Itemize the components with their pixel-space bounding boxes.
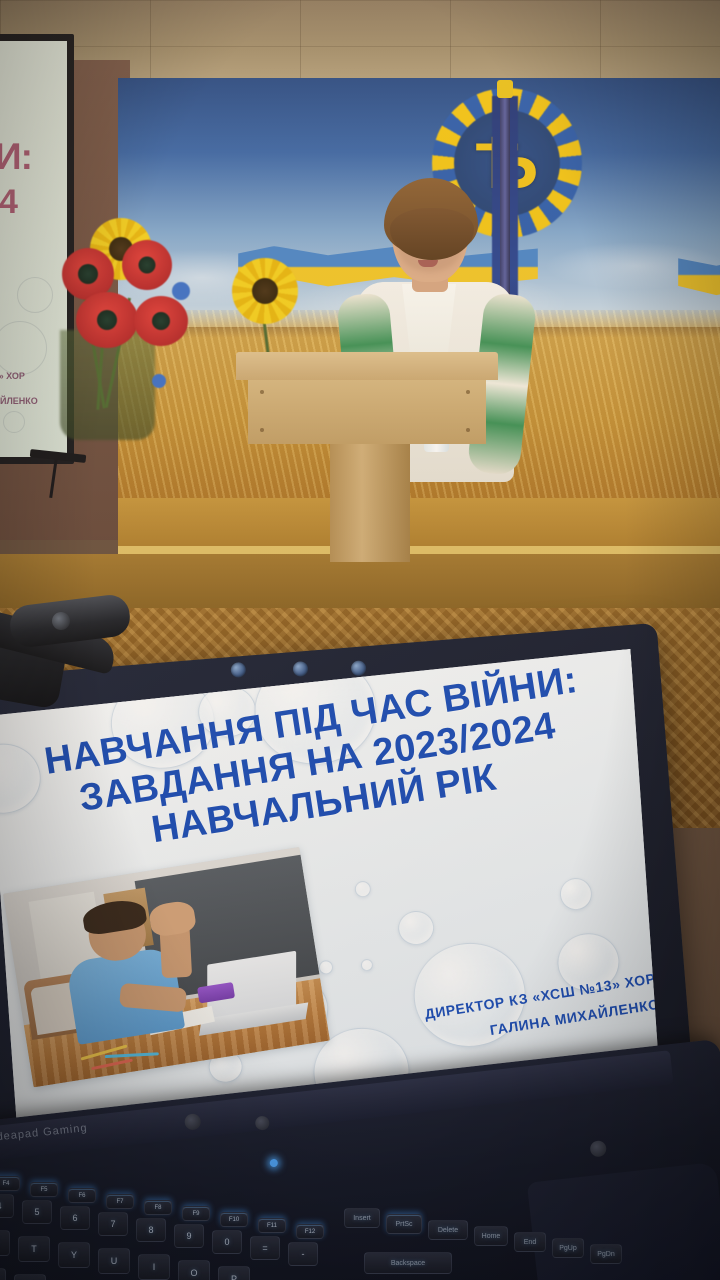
key-f7[interactable]: F7 xyxy=(106,1194,134,1209)
key-f6[interactable]: F6 xyxy=(68,1188,96,1203)
key-minus[interactable]: - xyxy=(288,1242,318,1266)
key-f4[interactable]: F4 xyxy=(0,1176,20,1191)
flag-pole-tip xyxy=(497,80,513,98)
key-0[interactable]: 0 xyxy=(212,1230,242,1254)
projector-subtitle-fragment-2: ИХАЙЛЕНКО xyxy=(0,396,38,406)
key-o[interactable]: O xyxy=(178,1260,210,1280)
key-u[interactable]: U xyxy=(98,1248,130,1274)
slide-bubble xyxy=(354,881,371,898)
webcam-icon xyxy=(351,660,367,676)
key-prtsc[interactable]: PrtSc xyxy=(386,1214,422,1234)
key-f8[interactable]: F8 xyxy=(144,1200,172,1215)
key-i[interactable]: I xyxy=(138,1254,170,1280)
key-f[interactable]: F xyxy=(0,1268,6,1280)
podium-top-surface xyxy=(236,352,498,380)
key-pgup[interactable]: PgUp xyxy=(552,1238,584,1258)
projector-bubble xyxy=(3,411,25,433)
key-8[interactable]: 8 xyxy=(136,1218,166,1242)
external-webcam[interactable] xyxy=(0,600,136,696)
key-y[interactable]: Y xyxy=(58,1242,90,1268)
key-f9[interactable]: F9 xyxy=(182,1206,210,1221)
podium-screw xyxy=(260,390,264,394)
podium-screw xyxy=(466,428,470,432)
podium-screw xyxy=(260,428,264,432)
key-4[interactable]: 4 xyxy=(0,1194,14,1218)
slide-bubble xyxy=(559,877,593,911)
slide-bubble xyxy=(360,959,373,972)
key-delete[interactable]: Delete xyxy=(428,1220,468,1240)
bezel-dot-icon xyxy=(230,662,246,678)
laptop[interactable]: НАВЧАННЯ ПІД ЧАС ВІЙНИ: ЗАВДАННЯ НА 2023… xyxy=(0,612,720,1280)
key-g[interactable]: G xyxy=(14,1274,46,1280)
slide-photo xyxy=(3,847,330,1088)
cornflower-icon xyxy=(152,374,166,388)
key-t[interactable]: T xyxy=(18,1236,50,1262)
bezel-dot-icon xyxy=(292,661,308,677)
sunflower-icon xyxy=(232,258,298,324)
presentation-photo-scene: Ѣ И: 4 Ш №13» ХОР ИХАЙЛЕНКО xyxy=(0,0,720,1280)
poppy-icon xyxy=(76,292,138,348)
key-f12[interactable]: F12 xyxy=(296,1224,324,1239)
podium-column xyxy=(330,440,410,562)
slide-bubble xyxy=(397,910,436,947)
projector-bubble xyxy=(17,277,53,313)
speaker-hair xyxy=(384,178,478,254)
key-p[interactable]: P xyxy=(218,1266,250,1280)
stage-platform-top xyxy=(118,498,720,552)
projector-title-fragment-2: 4 xyxy=(0,183,18,222)
cornflower-icon xyxy=(172,282,190,300)
poppy-icon xyxy=(134,296,188,346)
key-end[interactable]: End xyxy=(514,1232,546,1252)
key-6[interactable]: 6 xyxy=(60,1206,90,1230)
key-pgdn[interactable]: PgDn xyxy=(590,1244,622,1264)
podium-screw xyxy=(466,390,470,394)
key-5[interactable]: 5 xyxy=(22,1200,52,1224)
projector-screen-surface: И: 4 Ш №13» ХОР ИХАЙЛЕНКО xyxy=(0,41,67,457)
key-r[interactable]: R xyxy=(0,1230,10,1256)
key-7[interactable]: 7 xyxy=(98,1212,128,1236)
projector-wash xyxy=(0,41,67,457)
key-home[interactable]: Home xyxy=(474,1226,508,1246)
slide-bubble xyxy=(318,960,333,975)
key-f10[interactable]: F10 xyxy=(220,1212,248,1227)
key-f11[interactable]: F11 xyxy=(258,1218,286,1233)
podium-body xyxy=(248,378,486,444)
projector-subtitle-fragment-1: Ш №13» ХОР xyxy=(0,371,25,381)
key-f5[interactable]: F5 xyxy=(30,1182,58,1197)
key-insert[interactable]: Insert xyxy=(344,1208,380,1228)
poppy-icon xyxy=(122,240,172,290)
key-9[interactable]: 9 xyxy=(174,1224,204,1248)
keyboard[interactable]: F3 F4 F5 F6 F7 F8 F9 F10 F11 F12 3 4 5 6… xyxy=(0,1164,564,1280)
key-equals[interactable]: = xyxy=(250,1236,280,1260)
key-backspace[interactable]: Backspace xyxy=(364,1252,452,1274)
projector-title-fragment-1: И: xyxy=(0,136,32,178)
vent-icon xyxy=(589,1140,607,1158)
